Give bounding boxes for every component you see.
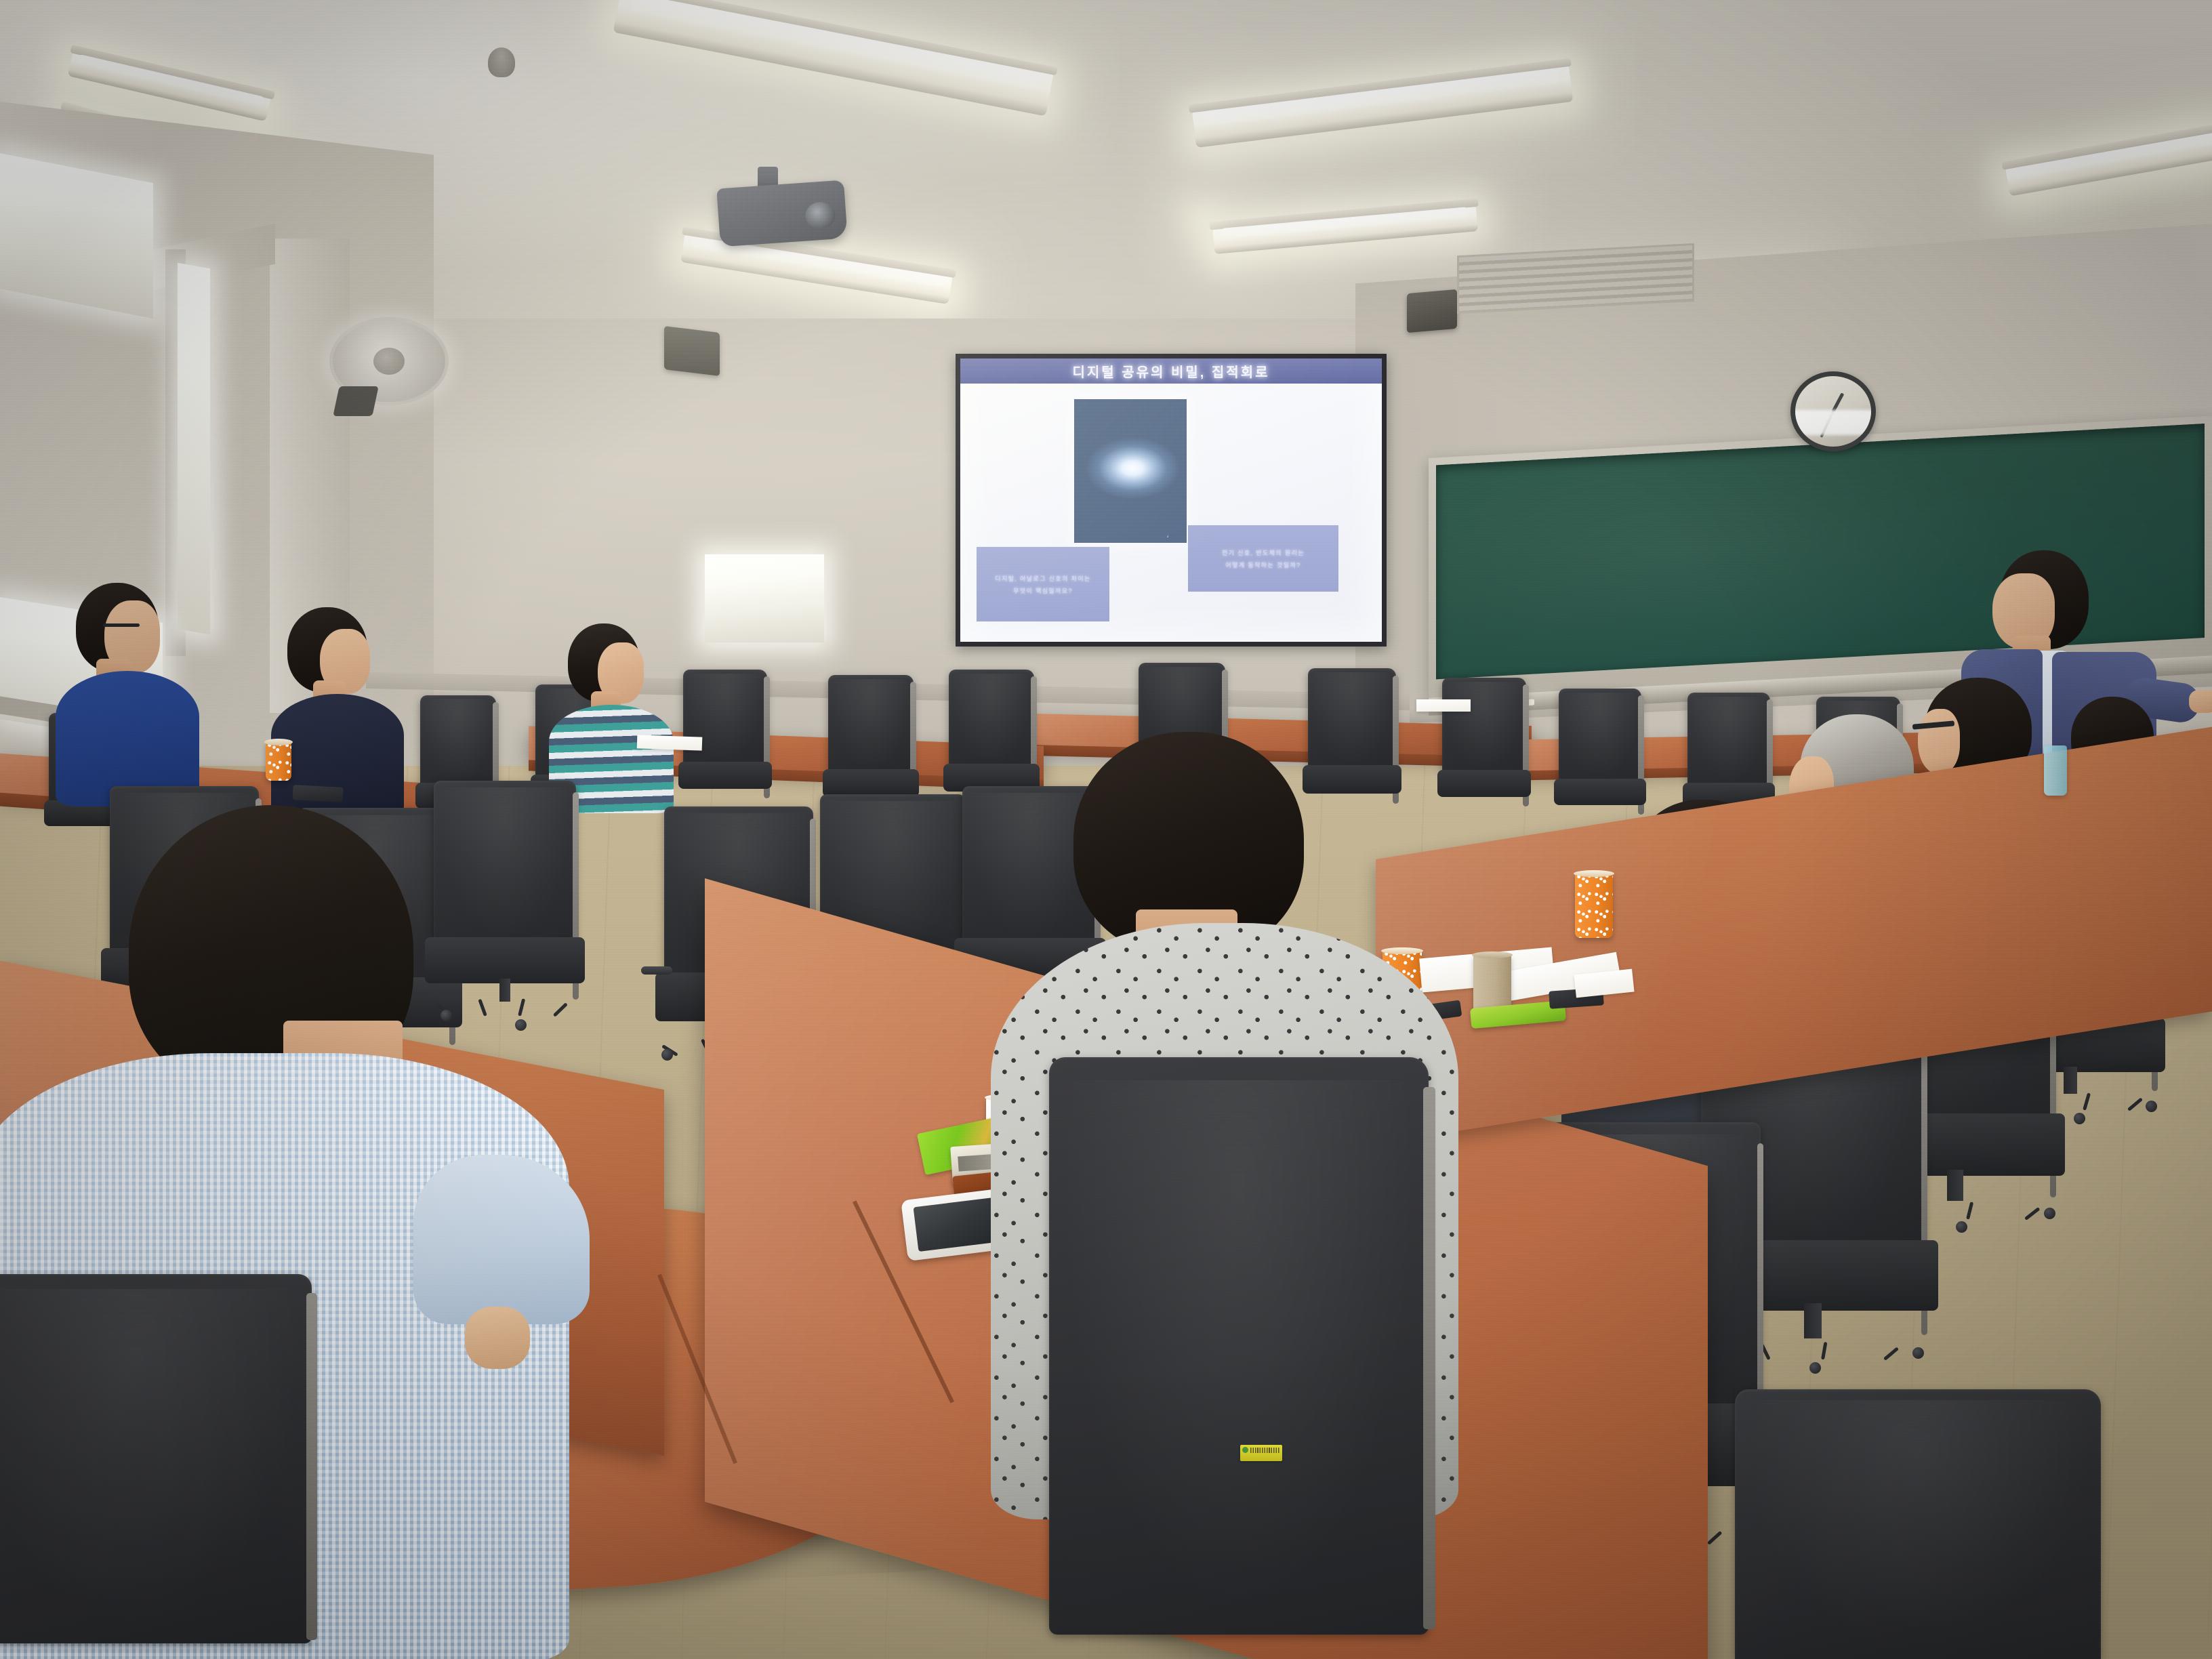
slide-header-bar: 디지털 공유의 비밀, 집적회로 <box>960 359 1382 384</box>
orange-polkadot-cup[interactable] <box>266 741 291 781</box>
fan-hub-icon <box>373 348 405 375</box>
projector-lens-icon <box>804 201 836 230</box>
office-chair[interactable] <box>1049 1057 1429 1659</box>
fan-mount <box>333 386 378 416</box>
office-chair[interactable] <box>1735 1389 2101 1659</box>
attendee-teal-stripe <box>560 623 689 808</box>
wall-speaker-icon <box>1407 289 1457 333</box>
dark-table-item[interactable] <box>292 785 343 802</box>
slide-box-right-line2: 어떻게 동작하는 것일까? <box>1225 560 1300 569</box>
slide-box-right-line1: 전기 신호, 반도체의 원리는 <box>1222 548 1305 557</box>
projection-screen: 디지털 공유의 비밀, 집적회로 디지털, 아날로그 신호의 차이는 무엇이 핵… <box>956 354 1387 647</box>
slide-box-left-line1: 디지털, 아날로그 신호의 차이는 <box>995 574 1090 583</box>
ceiling-projector-icon <box>716 180 848 247</box>
arm <box>413 1155 590 1324</box>
chair-asset-tag <box>1240 1445 1282 1461</box>
hand <box>465 1307 530 1369</box>
fire-sprinkler-icon <box>488 47 515 77</box>
white-handout-paper[interactable] <box>637 735 703 750</box>
seminar-room-photo: 디지털 공유의 비밀, 집적회로 디지털, 아날로그 신호의 차이는 무엇이 핵… <box>0 0 2212 1659</box>
kraft-paper-cup[interactable] <box>1473 954 1511 1012</box>
clock-glare <box>1790 410 1875 435</box>
slide-box-left-line2: 무엇이 핵심일까요? <box>1013 586 1073 595</box>
slide-text-box-right: 전기 신호, 반도체의 원리는 어떻게 동작하는 것일까? <box>1188 525 1338 592</box>
orange-polkadot-cup[interactable] <box>1575 873 1613 938</box>
window-pane <box>178 263 210 634</box>
attendee-navy <box>278 607 420 811</box>
office-chair[interactable] <box>0 1274 312 1659</box>
window-pane <box>705 554 824 642</box>
water-bottle[interactable] <box>2044 745 2067 796</box>
slide-text-box-left: 디지털, 아날로그 신호의 차이는 무엇이 핵심일까요? <box>977 547 1109 621</box>
office-chair[interactable] <box>828 675 914 814</box>
air-vent-icon <box>1457 243 1694 314</box>
white-handout-paper[interactable] <box>1416 699 1471 712</box>
clock-hour-hand <box>1832 392 1844 412</box>
slide-photo <box>1074 399 1187 543</box>
wall-clock-icon <box>1790 371 1876 451</box>
attendee-blue-polo <box>68 583 224 806</box>
wall-speaker-icon <box>664 326 720 376</box>
glasses-icon <box>103 623 140 627</box>
slide-title: 디지털 공유의 비밀, 집적회로 <box>1072 361 1269 381</box>
